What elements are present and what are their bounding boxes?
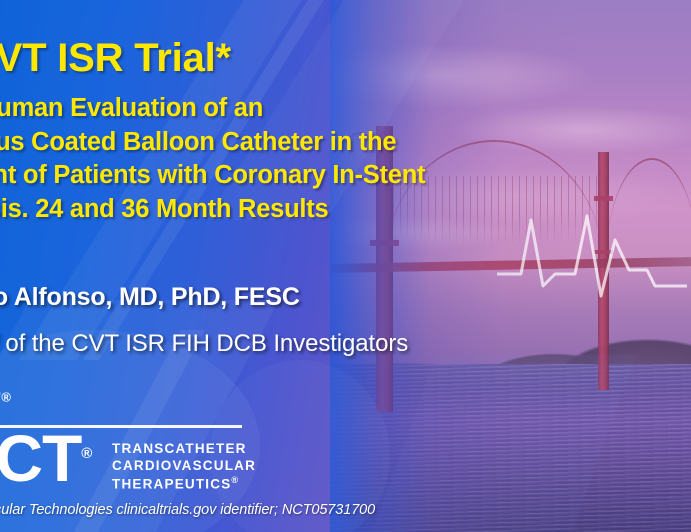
tct-wordmark: TRANSCATHETER CARDIOVASCULAR THERAPEUTIC… [112,440,256,492]
crf-logo-text: RF® [0,385,11,421]
subtitle-line-1: t in Human Evaluation of an [0,92,691,126]
registered-mark-icon: ® [1,390,11,405]
tct-logo-text: TCT® [0,425,91,491]
subtitle-line-3: atment of Patients with Coronary In-Sten… [0,159,691,193]
tct-wordmark-line-3-label: THERAPEUTICS [112,476,231,491]
presenter-name: nando Alfonso, MD, PhD, FESC [0,283,300,312]
tct-logo-label: TCT [0,421,81,495]
tct-wordmark-line-1: TRANSCATHETER [112,440,256,457]
registered-mark-icon: ® [231,475,238,485]
slide-subtitle: t in Human Evaluation of an rolimus Coat… [0,92,691,227]
subtitle-line-4: tenosis. 24 and 36 Month Results [0,193,691,227]
presentation-slide: e CVT ISR Trial* t in Human Evaluation o… [0,0,691,532]
trial-registration-footnote: u Vascular Technologies clinicaltrials.g… [0,502,375,518]
tct-wordmark-line-2: CARDIOVASCULAR [112,457,256,474]
slide-title: e CVT ISR Trial* [0,38,691,79]
registered-mark-icon: ® [81,445,91,462]
subtitle-line-2: rolimus Coated Balloon Catheter in the [0,126,691,160]
tct-wordmark-line-3: THERAPEUTICS® [112,475,256,493]
golden-gate-bridge-photo [330,0,691,532]
presenter-affiliation: behalf of the CVT ISR FIH DCB Investigat… [0,330,408,358]
photo-blue-tint-overlay [330,0,691,532]
